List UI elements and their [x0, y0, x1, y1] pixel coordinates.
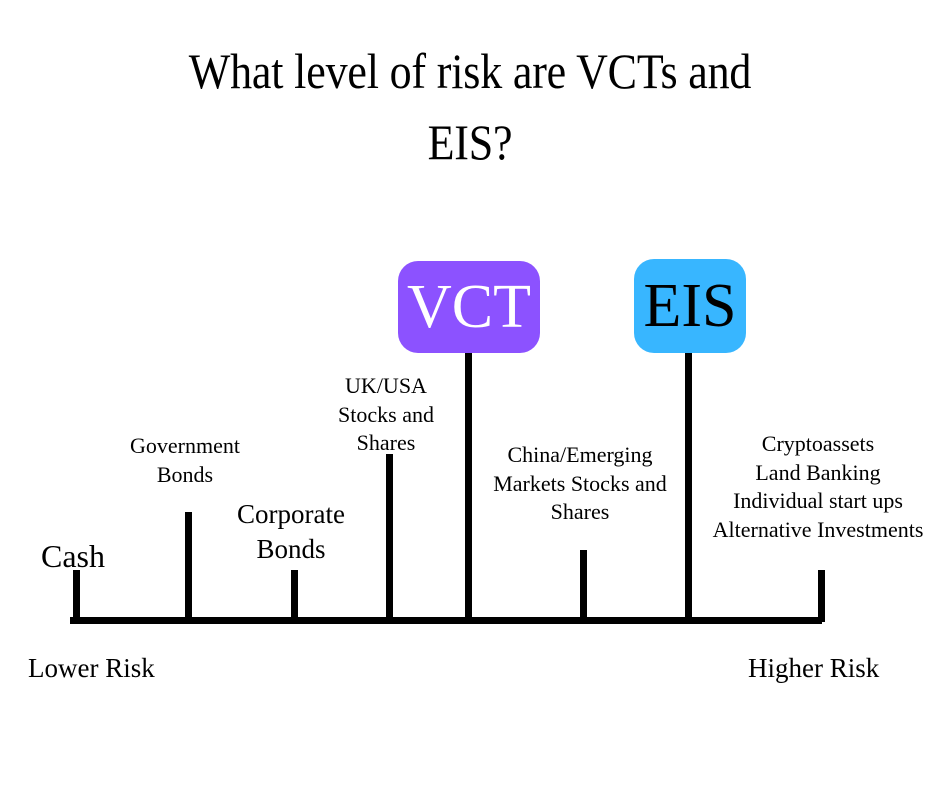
risk-label-cash: Cash	[0, 536, 186, 578]
vct-pole	[465, 350, 472, 622]
page-title: What level of risk are VCTs and EIS?	[118, 36, 822, 178]
vct-badge[interactable]: VCT	[398, 261, 540, 353]
risk-tick-cash	[73, 570, 80, 622]
risk-label-uk-usa-stocks: UK/USA Stocks and Shares	[296, 372, 476, 458]
risk-tick-corporate-bonds	[291, 570, 298, 622]
risk-tick-uk-usa-stocks	[386, 454, 393, 622]
risk-tick-china-emerging	[580, 550, 587, 622]
risk-label-china-emerging: China/Emerging Markets Stocks and Shares	[480, 441, 680, 527]
higher-risk-label: Higher Risk	[748, 653, 879, 684]
risk-tick-high-risk-assets	[818, 570, 825, 622]
lower-risk-label: Lower Risk	[28, 653, 155, 684]
risk-label-government-bonds: Government Bonds	[82, 432, 288, 489]
risk-label-corporate-bonds: Corporate Bonds	[188, 497, 394, 567]
eis-badge[interactable]: EIS	[634, 259, 746, 353]
risk-spectrum-diagram: What level of risk are VCTs and EIS? Cas…	[0, 0, 940, 788]
eis-pole	[685, 350, 692, 622]
risk-label-high-risk-assets: Cryptoassets Land Banking Individual sta…	[696, 430, 940, 544]
risk-axis-baseline	[70, 617, 822, 624]
